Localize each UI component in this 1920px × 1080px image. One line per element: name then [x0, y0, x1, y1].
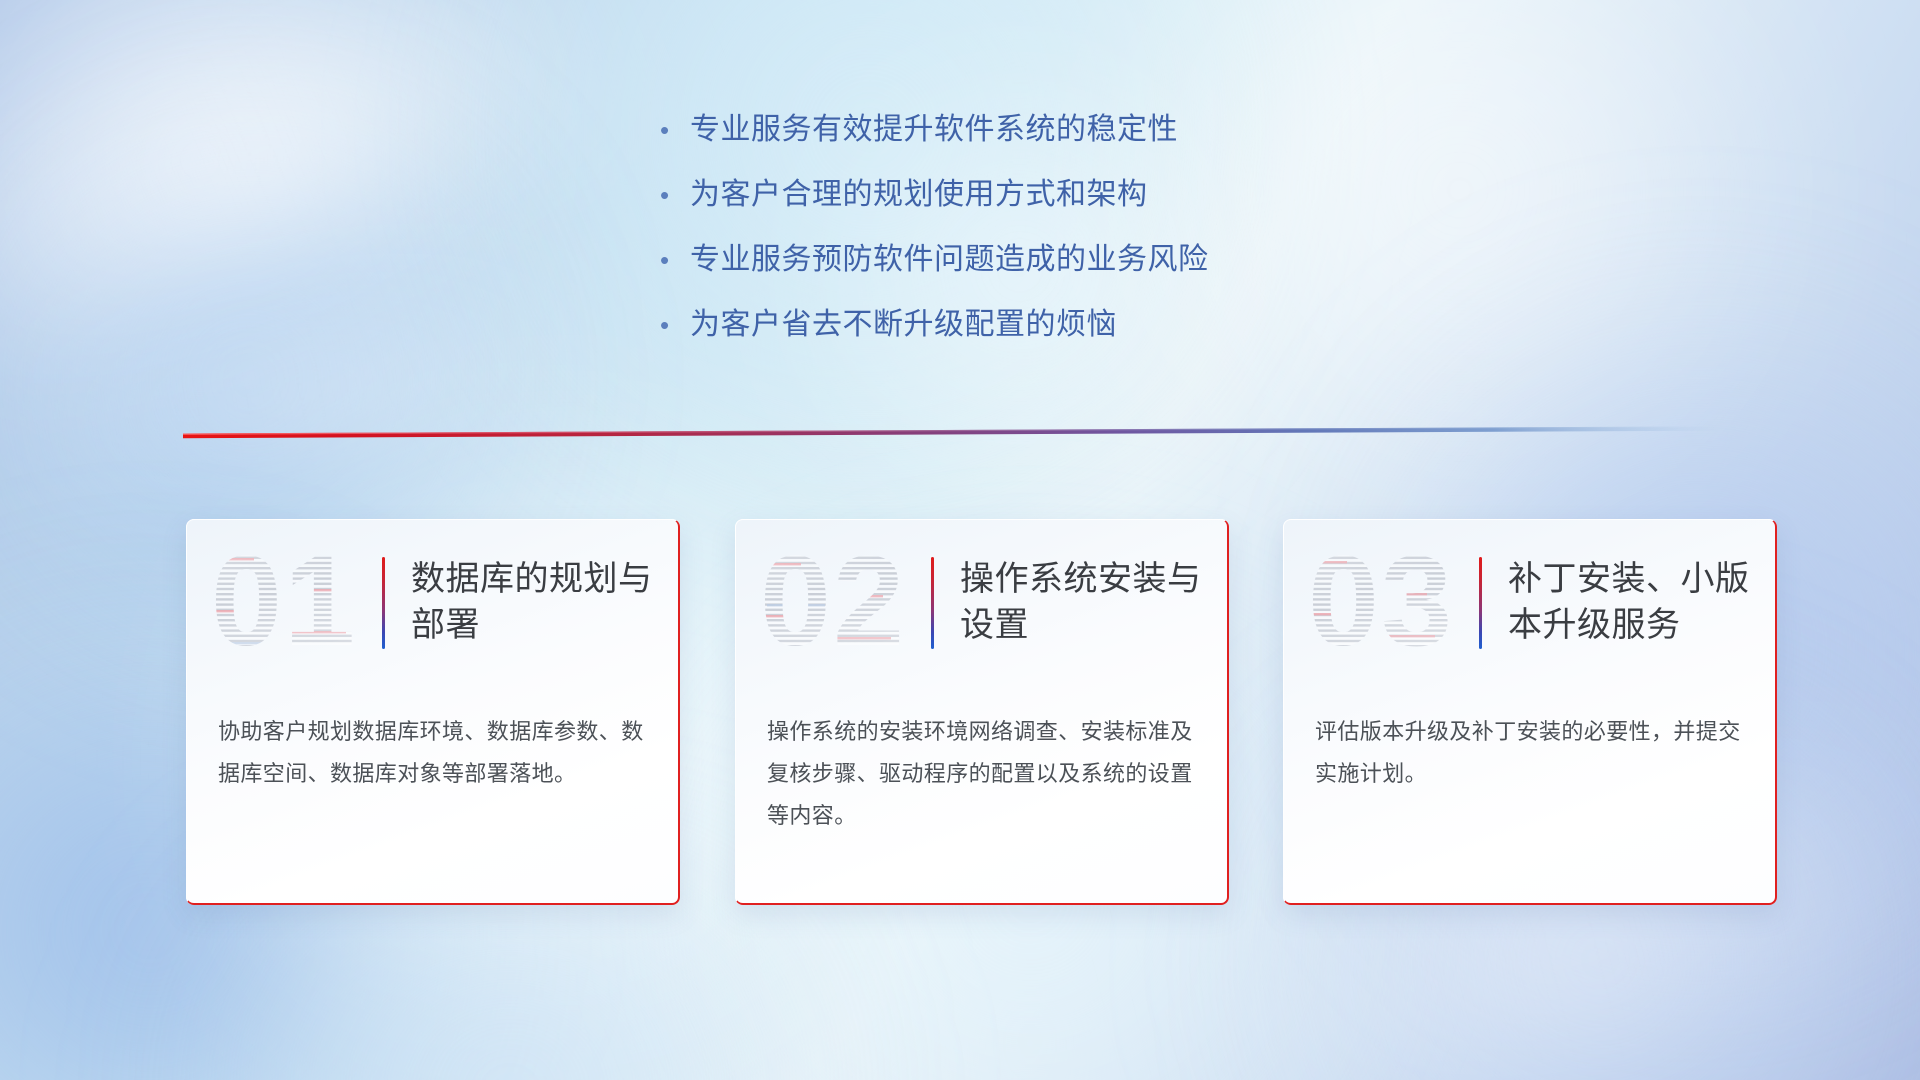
card-header: 02 操作系统安装与设置	[735, 541, 1229, 665]
card-description: 协助客户规划数据库环境、数据库参数、数据库空间、数据库对象等部署落地。	[218, 711, 652, 795]
card-title: 补丁安装、小版本升级服务	[1482, 557, 1777, 648]
card-title: 数据库的规划与部署	[385, 557, 680, 648]
card-header: 01 数据库的规划与部署	[186, 541, 680, 665]
card-number-graphic: 02	[735, 541, 931, 665]
service-card[interactable]: 02 操作系统安装与设置 操作系统的安装环境网络调	[735, 519, 1229, 905]
card-number-graphic: 03	[1283, 541, 1479, 665]
service-card[interactable]: 01 数据库的规划与部署 协助客户规划数据库环境、	[186, 519, 680, 905]
service-card[interactable]: 03 补丁安装、小版本升级服务 评估版本升级及补丁	[1283, 519, 1777, 905]
service-card-group: 01 数据库的规划与部署 协助客户规划数据库环境、	[0, 0, 1920, 1080]
card-header: 03 补丁安装、小版本升级服务	[1283, 541, 1777, 665]
card-number-graphic: 01	[186, 541, 382, 665]
card-title: 操作系统安装与设置	[934, 557, 1229, 648]
card-description: 评估版本升级及补丁安装的必要性，并提交实施计划。	[1315, 711, 1749, 795]
card-description: 操作系统的安装环境网络调查、安装标准及复核步骤、驱动程序的配置以及系统的设置等内…	[767, 711, 1201, 838]
